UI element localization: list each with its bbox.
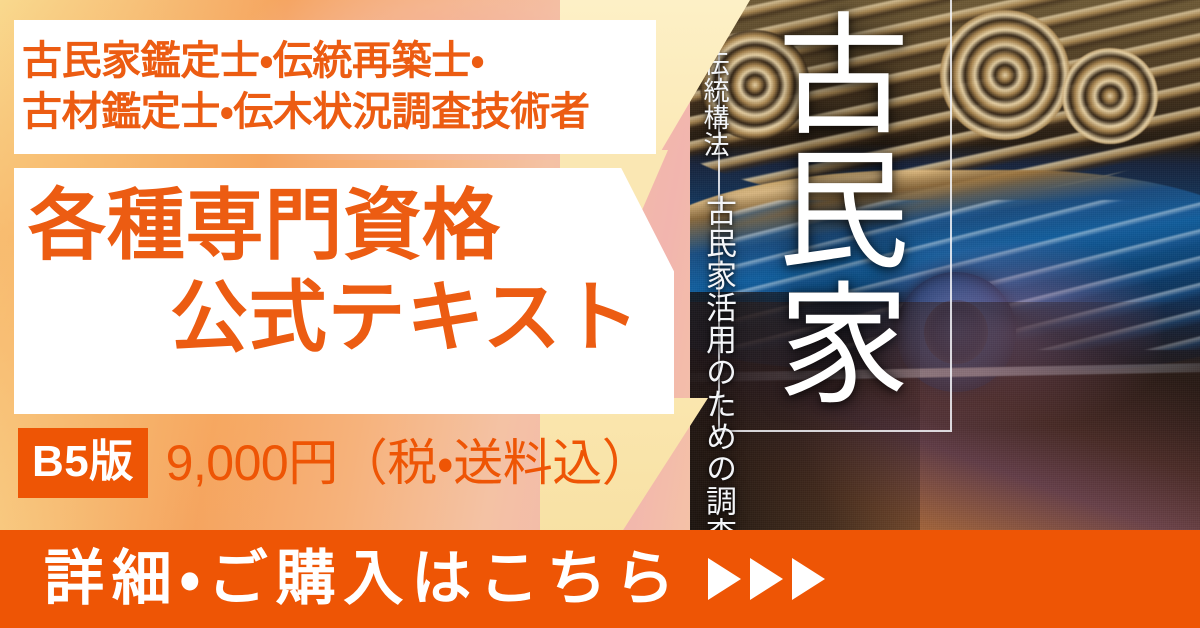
size-badge: B5版 xyxy=(18,428,148,498)
cover-caption-main: 古民家活用のための調査と再生の xyxy=(696,195,741,532)
headline-line-1: 各種専門資格 xyxy=(28,186,501,264)
cover-scroll-curl xyxy=(940,10,1070,140)
certification-line-1: 古民家鑑定士・伝統再築士・ xyxy=(22,36,656,87)
cta-button-bar[interactable]: 詳細・ご購入はこちら xyxy=(0,530,1200,628)
cover-title: 古民家 xyxy=(762,6,912,506)
certification-line-2: 古材鑑定士・伝木状況調査技術者 xyxy=(22,87,656,138)
triangle-right-icon xyxy=(750,558,783,600)
price-amount: 9,000円（税・送料込） xyxy=(166,438,652,488)
triangle-right-icon xyxy=(708,558,741,600)
headline-line-2: 公式テキスト xyxy=(170,278,640,356)
cta-arrow-group xyxy=(708,558,825,600)
book-cover-photo: 古民家 伝統構法 古民家活用のための調査と再生の xyxy=(690,0,1200,532)
certifications-panel: 古民家鑑定士・伝統再築士・ 古材鑑定士・伝木状況調査技術者 xyxy=(14,20,656,154)
cover-scroll-curl xyxy=(1062,48,1158,144)
cta-label: 詳細・ご購入はこちら xyxy=(44,549,682,609)
price-row: B5版 9,000円（税・送料込） xyxy=(18,428,651,498)
headline-panel: 各種専門資格 公式テキスト xyxy=(14,168,674,414)
promo-banner: 古民家 伝統構法 古民家活用のための調査と再生の 古民家鑑定士・伝統再築士・ 古… xyxy=(0,0,1200,628)
triangle-right-icon xyxy=(792,558,825,600)
